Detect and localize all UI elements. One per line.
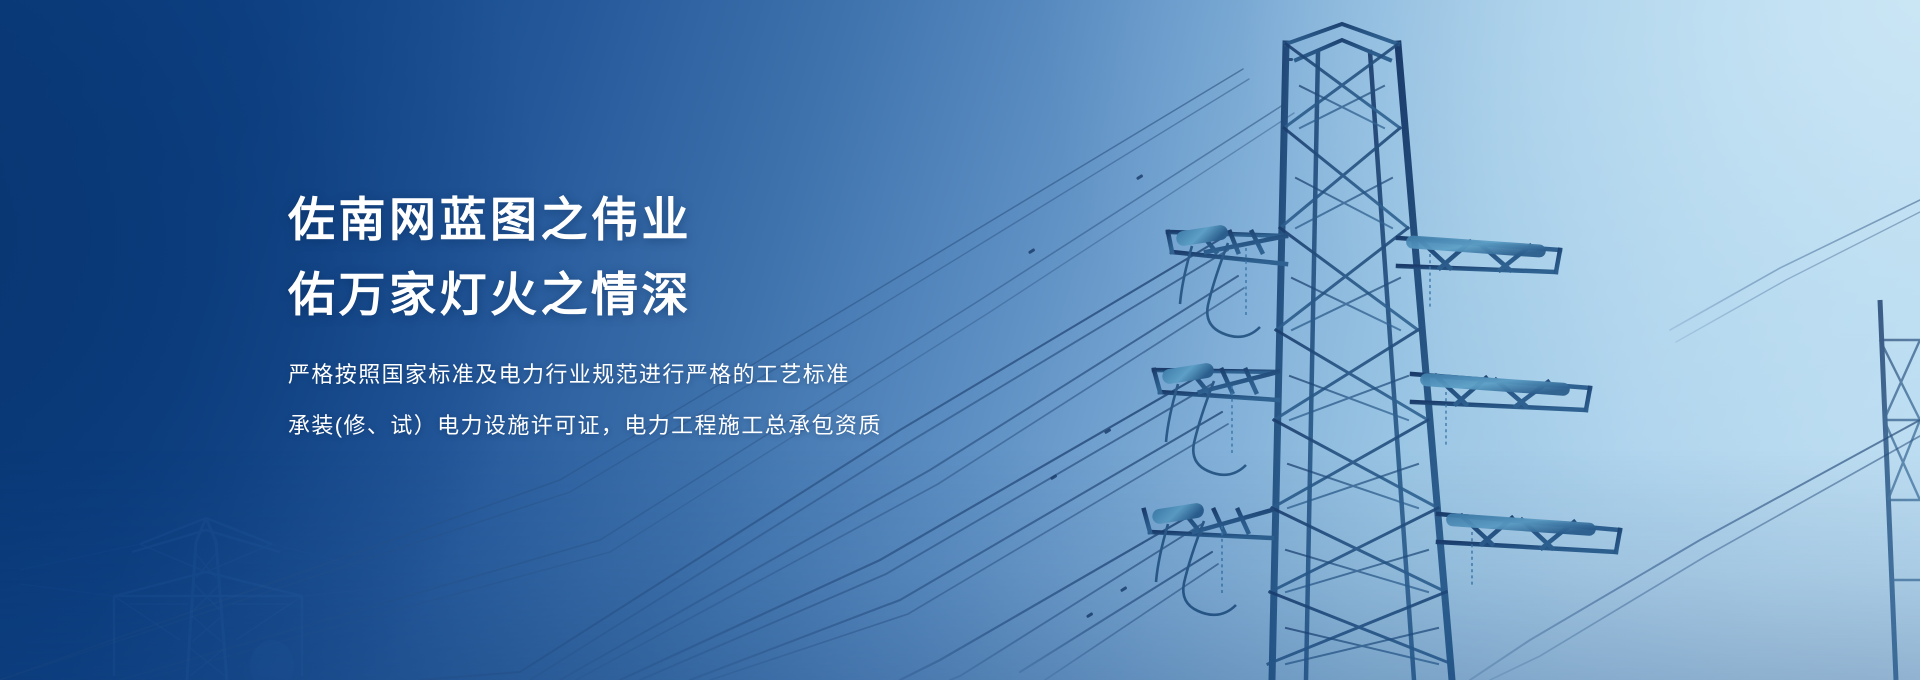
banner-copy: 佐南网蓝图之伟业 佑万家灯火之情深 严格按照国家标准及电力行业规范进行严格的工艺…	[288, 196, 1048, 437]
ghost-pylon-watermark	[20, 444, 380, 680]
headline-line-2: 佑万家灯火之情深	[288, 271, 1048, 318]
hero-banner: 佐南网蓝图之伟业 佑万家灯火之情深 严格按照国家标准及电力行业规范进行严格的工艺…	[0, 0, 1920, 680]
headline-line-1: 佐南网蓝图之伟业	[288, 196, 1048, 243]
subtitle-group: 严格按照国家标准及电力行业规范进行严格的工艺标准 承装(修、试）电力设施许可证，…	[288, 364, 1048, 437]
subtitle-line-2: 承装(修、试）电力设施许可证，电力工程施工总承包资质	[288, 415, 1048, 437]
subtitle-line-1: 严格按照国家标准及电力行业规范进行严格的工艺标准	[288, 364, 1048, 386]
